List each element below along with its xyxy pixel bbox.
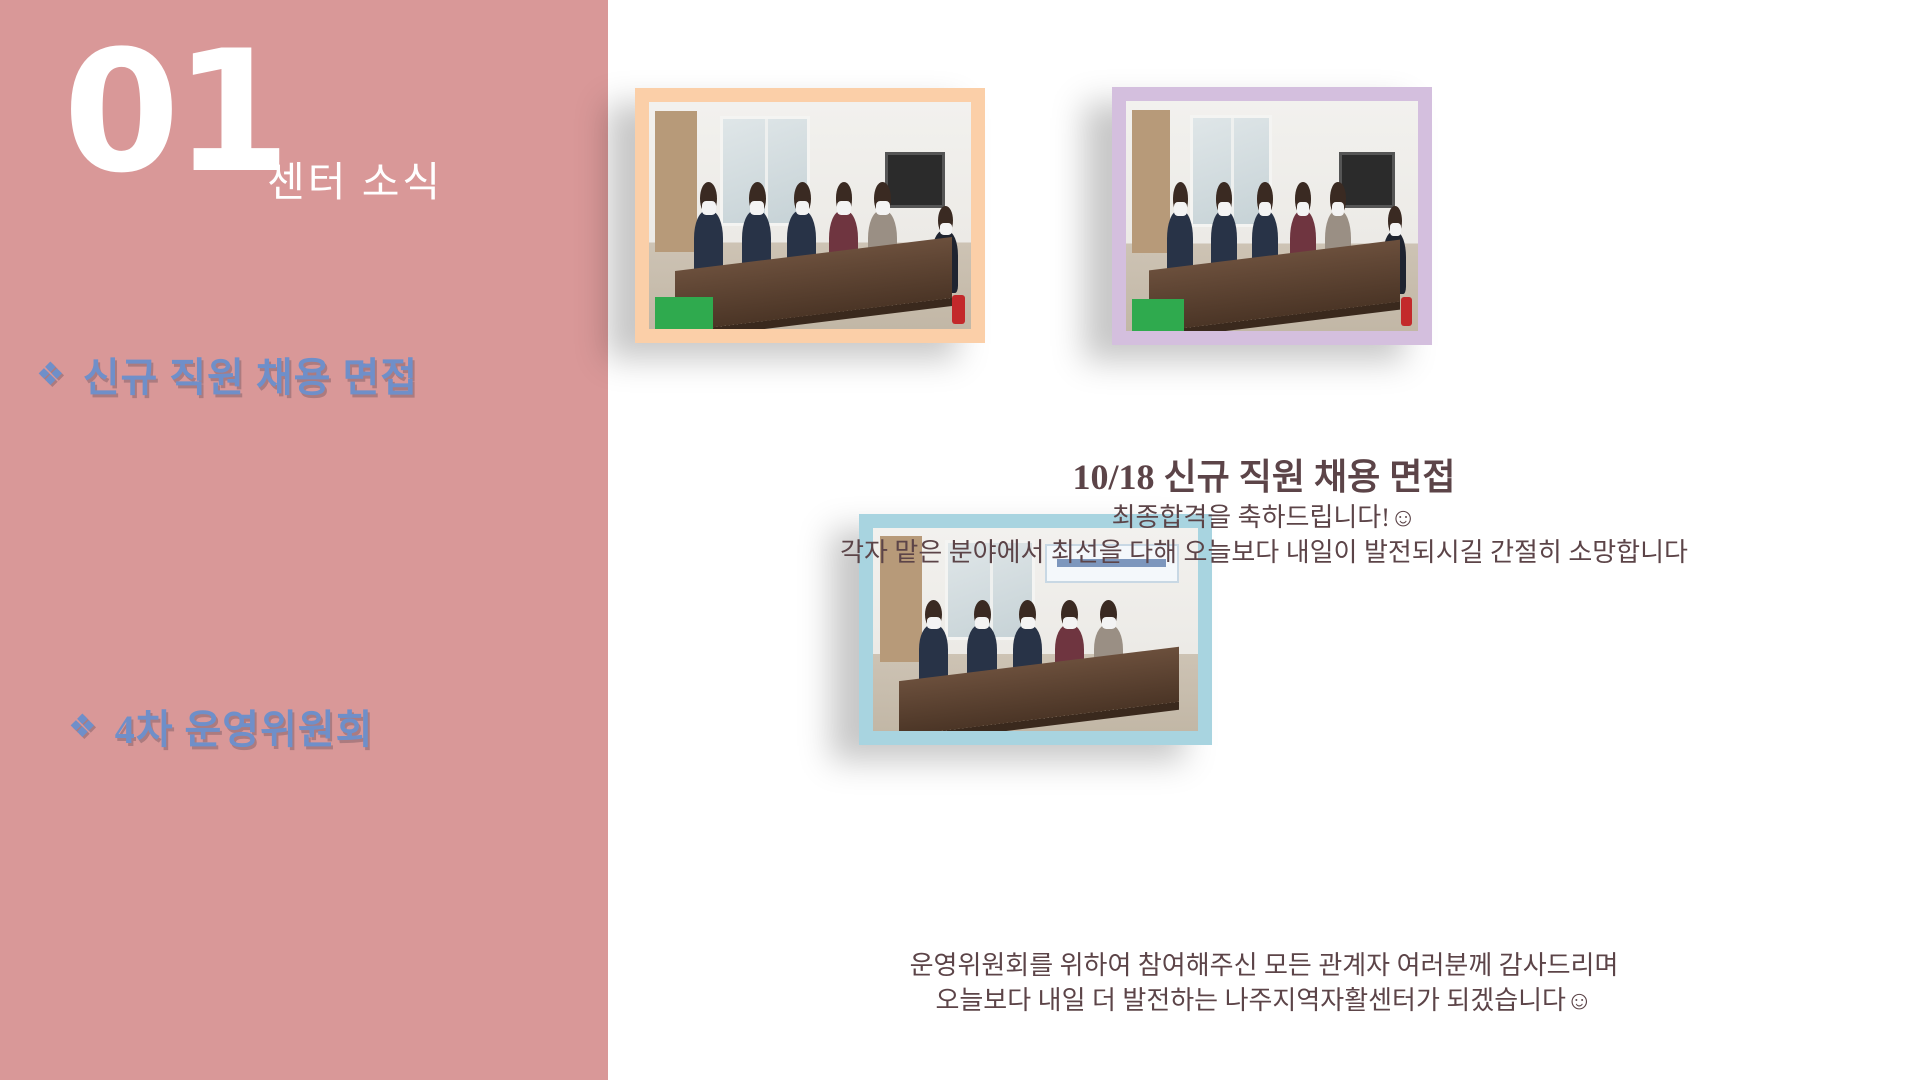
caption-line: 오늘보다 내일 더 발전하는 나주지역자활센터가 되겠습니다☺ — [608, 983, 1920, 1018]
content-panel: 10/18 신규 직원 채용 면접 최종합격을 축하드립니다!☺ 각자 맡은 분… — [608, 0, 1920, 1080]
section-number: 01 — [63, 28, 285, 196]
slide-canvas: 01 센터 소식 ❖ 신규 직원 채용 면접 ❖ 4차 운영위원회 — [0, 0, 1920, 1080]
photo-image — [649, 102, 971, 329]
bookshelf — [1132, 110, 1170, 253]
section-subtitle: 센터 소식 — [267, 148, 443, 208]
sidebar-item-new-employee-interview[interactable]: ❖ 신규 직원 채용 면접 — [36, 345, 418, 403]
green-bin — [1132, 299, 1185, 331]
caption-line: 각자 맡은 분야에서 최선을 다해 오늘보다 내일이 발전되시길 간절히 소망합… — [608, 535, 1920, 570]
caption-line: 최종합격을 축하드립니다!☺ — [608, 500, 1920, 535]
sidebar-item-steering-committee[interactable]: ❖ 4차 운영위원회 — [68, 697, 374, 755]
meeting-room-scene — [1126, 101, 1418, 331]
meeting-room-scene — [649, 102, 971, 329]
sidebar-item-label: 신규 직원 채용 면접 — [83, 345, 418, 403]
sidebar-item-label: 4차 운영위원회 — [115, 697, 374, 755]
monitor-screen — [1339, 152, 1395, 209]
bookshelf — [655, 111, 697, 252]
diamond-bullet-icon: ❖ — [68, 710, 97, 742]
photo-image — [1126, 101, 1418, 331]
fire-extinguisher — [1401, 297, 1413, 327]
interview-photo-right — [1112, 87, 1432, 345]
monitor-screen — [885, 152, 946, 208]
committee-caption-block: 운영위원회를 위하여 참여해주신 모든 관계자 여러분께 감사드리며 오늘보다 … — [608, 948, 1920, 1018]
interview-caption-block: 10/18 신규 직원 채용 면접 최종합격을 축하드립니다!☺ 각자 맡은 분… — [608, 455, 1920, 570]
interview-photo-left — [635, 88, 985, 343]
diamond-bullet-icon: ❖ — [36, 358, 65, 390]
left-panel: 01 센터 소식 ❖ 신규 직원 채용 면접 ❖ 4차 운영위원회 — [0, 0, 608, 1080]
caption-heading: 10/18 신규 직원 채용 면접 — [608, 455, 1920, 500]
caption-line: 운영위원회를 위하여 참여해주신 모든 관계자 여러분께 감사드리며 — [608, 948, 1920, 983]
fire-extinguisher — [952, 295, 965, 325]
green-bin — [655, 297, 713, 329]
